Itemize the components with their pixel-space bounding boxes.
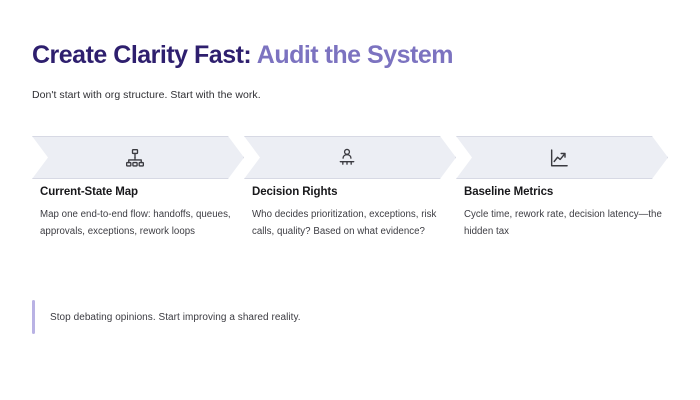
step-body-3: Cycle time, rework rate, decision latenc… (464, 207, 672, 240)
step-heading-2: Decision Rights (252, 186, 452, 198)
chevron-step-3[interactable] (456, 136, 668, 179)
trend-chart-icon (549, 148, 569, 168)
step-column-3: Baseline Metrics Cycle time, rework rate… (464, 186, 672, 240)
page-title: Create Clarity Fast: Audit the System (32, 40, 453, 70)
step-body-1: Map one end-to-end flow: handoffs, queue… (40, 207, 240, 240)
chevron-step-1[interactable] (32, 136, 244, 179)
chevron-step-2[interactable] (244, 136, 456, 179)
step-body-2: Who decides prioritization, exceptions, … (252, 207, 452, 240)
callout-text: Stop debating opinions. Start improving … (35, 312, 301, 323)
page-subtitle: Don't start with org structure. Start wi… (32, 89, 261, 101)
step-heading-1: Current-State Map (40, 186, 240, 198)
process-chevron-band (32, 136, 668, 179)
slide-root: Create Clarity Fast: Audit the System Do… (0, 0, 700, 400)
callout-quote: Stop debating opinions. Start improving … (32, 300, 452, 334)
step-heading-3: Baseline Metrics (464, 186, 672, 198)
decision-maker-icon (337, 148, 357, 168)
org-chart-icon (125, 148, 145, 168)
step-column-2: Decision Rights Who decides prioritizati… (252, 186, 452, 240)
page-title-main: Create Clarity Fast: (32, 41, 251, 69)
step-column-1: Current-State Map Map one end-to-end flo… (40, 186, 240, 240)
page-title-accent: Audit the System (251, 41, 453, 69)
